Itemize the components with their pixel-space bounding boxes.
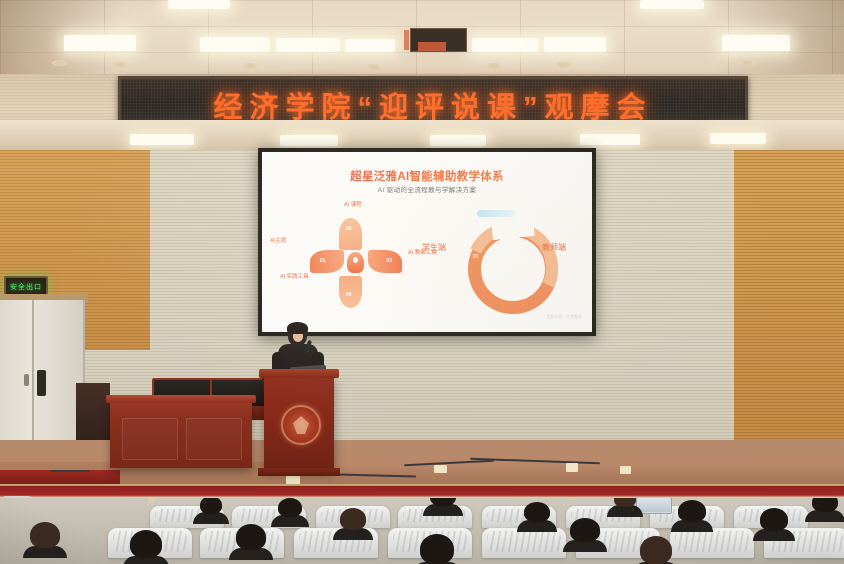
stage-table [110, 400, 252, 468]
ceiling-downlight-6 [556, 62, 571, 68]
attendee-bottle [148, 498, 154, 504]
petal-02-number: 02 [346, 226, 352, 232]
slide-subtitle: AI 驱动的全流程教与学解决方案 [262, 184, 592, 194]
ceiling-downlight-4 [366, 64, 381, 70]
projector-red-edge [404, 30, 409, 50]
ceiling-downlight-7 [740, 60, 755, 66]
audience-head [812, 498, 838, 512]
attendee-bottle [568, 498, 575, 500]
floor-tape-2 [434, 465, 447, 473]
audience-head [760, 508, 788, 531]
audience-head [640, 536, 672, 564]
slide-decor-pill [477, 210, 515, 217]
audience-head [420, 534, 454, 564]
petal-03-number: 03 [386, 258, 392, 264]
ceiling [0, 0, 844, 78]
audience-head [30, 522, 60, 548]
petal-03 [368, 250, 402, 273]
speaker-podium [264, 375, 334, 470]
soffit-light-2 [280, 135, 338, 146]
projection-screen: 超星泛雅AI智能辅助教学体系 AI 驱动的全流程教与学解决方案 01 02 03… [262, 152, 592, 332]
audience-head [524, 502, 550, 522]
soffit-light-5 [710, 133, 766, 144]
slide-footer-note: 超星泛雅 · 智慧教学 [546, 314, 582, 320]
audience-head [678, 500, 706, 522]
soffit-light-4 [580, 134, 640, 145]
exit-sign-label: 安全出口 [10, 282, 42, 292]
ceiling-panel-light-2 [200, 37, 270, 52]
petal-01-number: 01 [320, 258, 326, 264]
lightbulb-icon [347, 252, 364, 273]
stage-table-panel-right [186, 418, 242, 460]
loop-num-left: 01 [473, 254, 479, 260]
audience-area [0, 498, 844, 564]
ceiling-downlight-5 [486, 63, 501, 69]
ceiling-downlight-2 [113, 62, 128, 68]
soffit-light-1 [130, 134, 194, 145]
teaching-loop-diagram: 01 02 [462, 218, 538, 294]
stage-table-panel-left [122, 418, 178, 460]
audience-head [130, 530, 162, 558]
university-emblem [281, 405, 321, 445]
ceiling-panel-light-7 [722, 35, 790, 51]
teacher-side-label: 教师端 [542, 242, 566, 253]
audience-head [340, 508, 366, 530]
ceiling-panel-light-9 [640, 0, 704, 9]
presenter-hair [287, 322, 308, 334]
projection-screen-frame: 超星泛雅AI智能辅助教学体系 AI 驱动的全流程教与学解决方案 01 02 03… [258, 148, 596, 336]
ceiling-panel-light-8 [168, 0, 230, 9]
soffit-light-3 [430, 135, 486, 146]
audience-head [236, 524, 266, 550]
floor-tape-4 [620, 466, 631, 474]
ai-flower-diagram: 01 02 03 04 [308, 214, 404, 310]
loop-num-right: 02 [521, 260, 527, 266]
ceiling-panel-light-5 [472, 38, 538, 52]
projector-red-glow [418, 42, 446, 51]
podium-top-surface [259, 369, 339, 378]
student-side-label: 学生端 [422, 242, 446, 253]
flower-label-left: AI主题 [270, 236, 286, 244]
ceiling-downlight-3 [243, 63, 258, 69]
lecture-hall-photo: 经济学院“迎评说课”观摩会 安全出口 超星泛雅AI智能辅助教学体系 AI 驱动的… [0, 0, 844, 564]
stage-table-top [106, 395, 256, 403]
flower-label-top: AI 课程 [344, 200, 362, 208]
laptop-screen [638, 498, 670, 512]
ceiling-downlight-1 [52, 60, 67, 66]
ceiling-panel-light-4 [345, 39, 395, 52]
door-lock-icon[interactable] [37, 370, 46, 396]
petal-04-number: 04 [346, 292, 352, 298]
ceiling-panel-light-3 [276, 38, 340, 52]
slide-title: 超星泛雅AI智能辅助教学体系 [262, 168, 592, 184]
petal-02 [339, 218, 362, 250]
audience-seat [670, 528, 754, 558]
ceiling-panel-light-6 [544, 37, 606, 52]
podium-base [258, 468, 340, 476]
floor-cable-4 [50, 470, 90, 472]
audience-head [200, 498, 222, 514]
flower-label-bottom: AI 实践工具 [280, 272, 309, 280]
floor-tape-3 [566, 463, 578, 472]
audience-seat [482, 528, 566, 558]
petal-01 [310, 250, 344, 273]
audience-head [570, 518, 600, 542]
ceiling-panel-light-1 [64, 35, 136, 51]
floor-tape-1 [286, 475, 300, 484]
audience-head [278, 498, 302, 517]
door-handle[interactable] [24, 374, 29, 386]
